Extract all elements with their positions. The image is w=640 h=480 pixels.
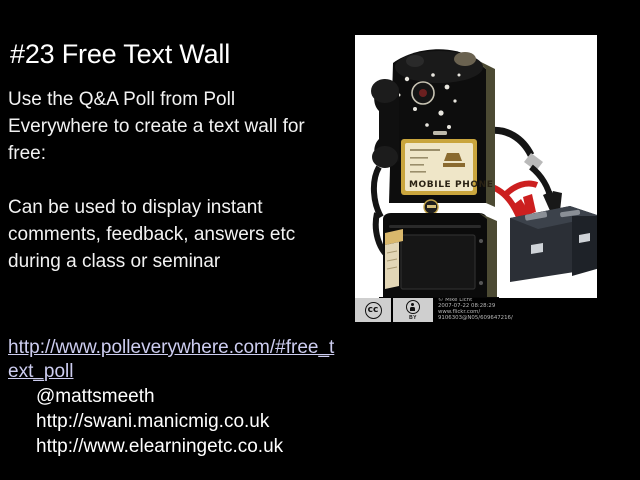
- payphone-photo: MOBILE PHONE cc: [355, 35, 597, 322]
- link-polleverywhere[interactable]: http://www.polleverywhere.com/#free_text…: [8, 336, 338, 384]
- link-swani-manicmig: http://swani.manicmig.co.uk: [36, 409, 338, 434]
- by-icon: BY: [393, 298, 433, 322]
- paragraph-2: Can be used to display instant comments,…: [8, 194, 334, 275]
- attribution-text: © Mike Licht 2007-07-22 08:28:29 www.fli…: [433, 298, 597, 322]
- paragraph-1: Use the Q&A Poll from Poll Everywhere to…: [8, 86, 334, 167]
- body-text-block: Use the Q&A Poll from Poll Everywhere to…: [8, 86, 334, 275]
- page-title: #23 Free Text Wall: [10, 38, 340, 70]
- attribution-line-4: 9106303@N05/609647216/: [438, 316, 597, 322]
- slide: #23 Free Text Wall Use the Q&A Poll from…: [0, 0, 640, 480]
- payphone-illustration: MOBILE PHONE: [355, 35, 597, 322]
- cc-icon: cc: [355, 298, 391, 322]
- links-block: http://www.polleverywhere.com/#free_text…: [8, 336, 338, 459]
- svg-text:MOBILE PHONE: MOBILE PHONE: [409, 180, 494, 190]
- cc-attribution-bar: cc BY © Mike Licht 2007-07-22 08:28:29 w…: [355, 298, 597, 322]
- by-label: BY: [409, 315, 417, 321]
- handle-mattsmeeth: @mattsmeeth: [36, 384, 338, 409]
- link-elearningetc: http://www.elearningetc.co.uk: [36, 434, 338, 459]
